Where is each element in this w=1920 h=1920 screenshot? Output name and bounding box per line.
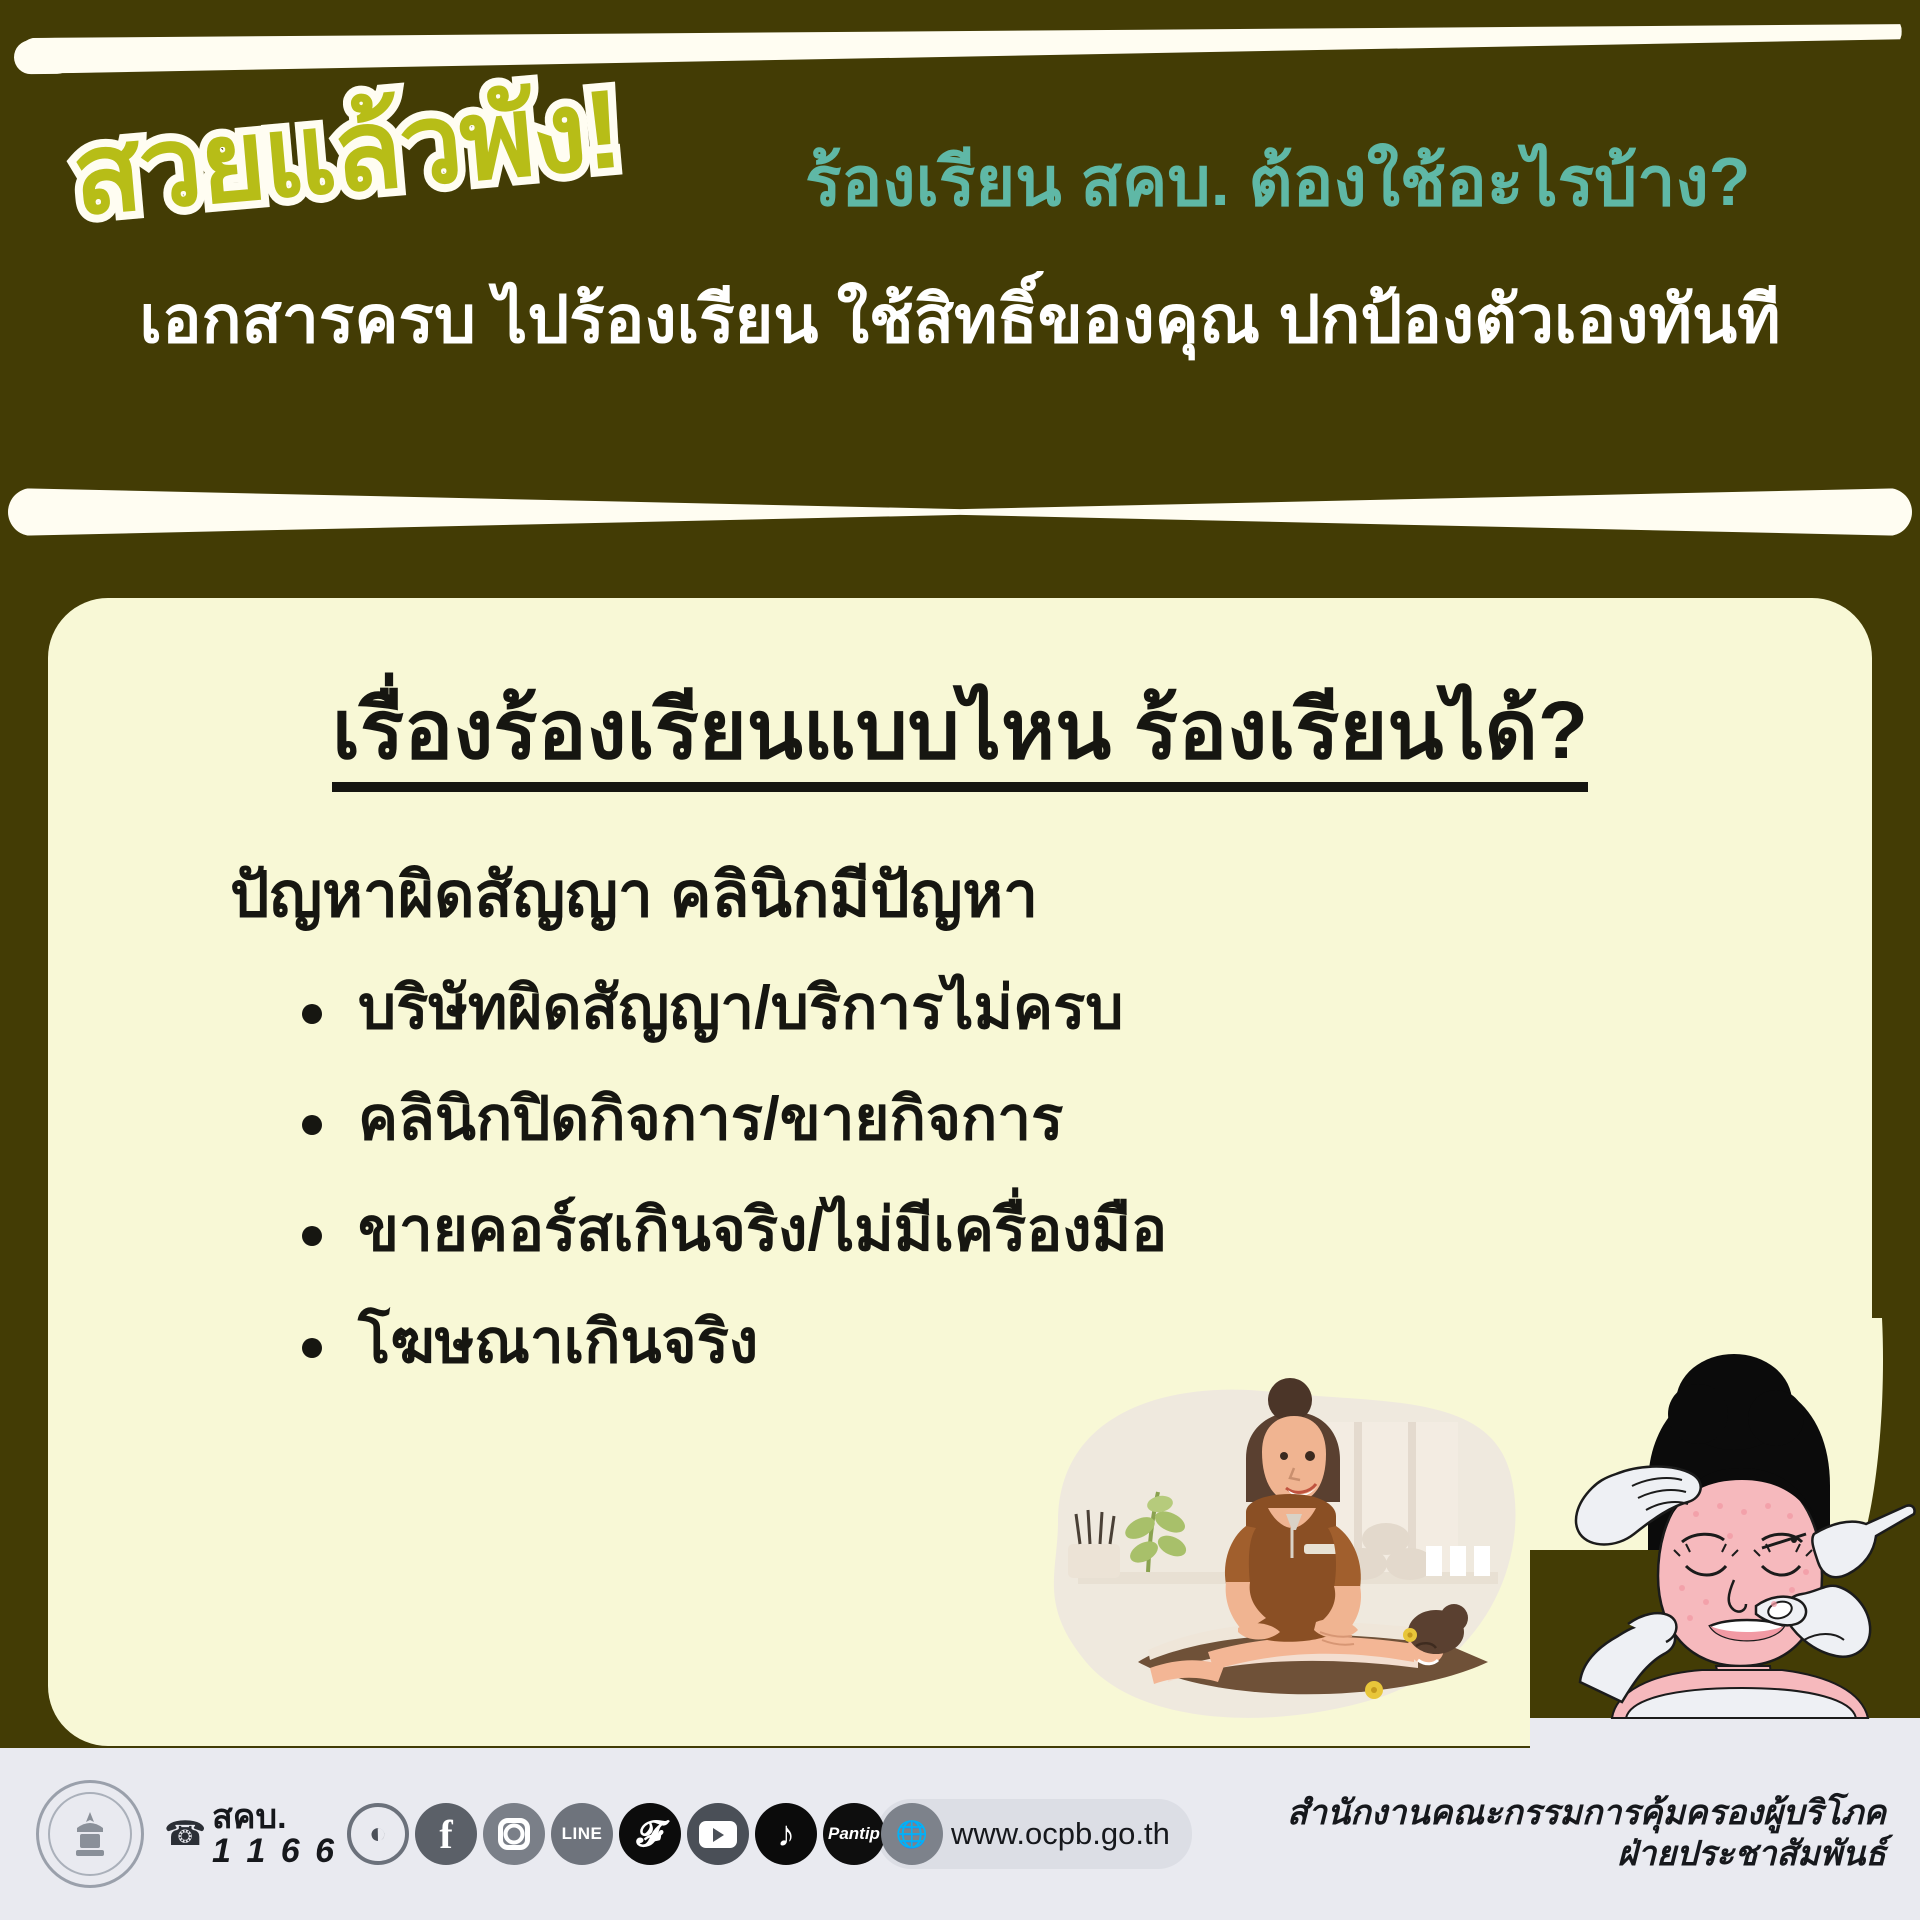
x-twitter-icon[interactable]: 𝓕 — [619, 1803, 681, 1865]
social-icon-row: ◐ f LINE 𝓕 ♪ Pantip — [347, 1803, 885, 1865]
card-heading-text: เรื่องร้องเรียนแบบไหน ร้องเรียนได้? — [332, 685, 1588, 792]
website-globe-icon: 🌐 — [881, 1803, 943, 1865]
org-department: ฝ่ายประชาสัมพันธ์ — [1287, 1834, 1886, 1875]
instagram-icon[interactable] — [483, 1803, 545, 1865]
hotline-number: 1 1 6 6 — [212, 1834, 337, 1868]
card-heading: เรื่องร้องเรียนแบบไหน ร้องเรียนได้? — [48, 686, 1872, 776]
list-item: ขายคอร์สเกินจริง/ไม่มีเครื่องมือ — [296, 1196, 1167, 1263]
mid-stripe-decoration — [0, 468, 1920, 554]
list-item: คลินิกปิดกิจการ/ขายกิจการ — [296, 1085, 1167, 1152]
beauty-treatment-illustration — [1530, 1318, 1920, 1748]
header-headline: เอกสารครบ ไปร้องเรียน ใช้สิทธิ์ของคุณ ปก… — [0, 282, 1920, 358]
spa-massage-illustration — [1018, 1332, 1538, 1732]
youtube-icon[interactable] — [687, 1803, 749, 1865]
top-stripe-decoration — [0, 10, 1920, 100]
pantip-icon[interactable]: Pantip — [823, 1803, 885, 1865]
website-url-text: www.ocpb.go.th — [951, 1816, 1170, 1852]
website-link[interactable]: 🌐 www.ocpb.go.th — [877, 1799, 1192, 1869]
organisation-credit: สำนักงานคณะกรรมการคุ้มครองผู้บริโภค ฝ่าย… — [1287, 1793, 1886, 1876]
facebook-icon[interactable]: f — [415, 1803, 477, 1865]
hotline-label: สคบ. — [212, 1800, 337, 1834]
header-subtitle: ร้องเรียน สคบ. ต้องใช้อะไรบ้าง? — [805, 148, 1750, 216]
government-seal-icon — [36, 1780, 144, 1888]
tiktok-icon[interactable]: ♪ — [755, 1803, 817, 1865]
header-kicker-row: สวยแล้วพัง! ร้องเรียน สคบ. ต้องใช้อะไรบ้… — [0, 112, 1920, 272]
phone-icon: ☎ — [164, 1814, 204, 1854]
footer-bar: ☎ สคบ. 1 1 6 6 ◐ f LINE 𝓕 ♪ Pantip 🌐 www… — [0, 1748, 1920, 1920]
card-lead-text: ปัญหาผิดสัญญา คลินิกมีปัญหา — [230, 862, 1038, 930]
line-icon[interactable]: LINE — [551, 1803, 613, 1865]
ocpb-logo-icon[interactable]: ◐ — [347, 1803, 409, 1865]
org-name: สำนักงานคณะกรรมการคุ้มครองผู้บริโภค — [1287, 1793, 1886, 1834]
poster-root: สวยแล้วพัง! ร้องเรียน สคบ. ต้องใช้อะไรบ้… — [0, 0, 1920, 1920]
list-item: บริษัทผิดสัญญา/บริการไม่ครบ — [296, 974, 1167, 1041]
hotline-block: ☎ สคบ. 1 1 6 6 — [164, 1800, 337, 1868]
